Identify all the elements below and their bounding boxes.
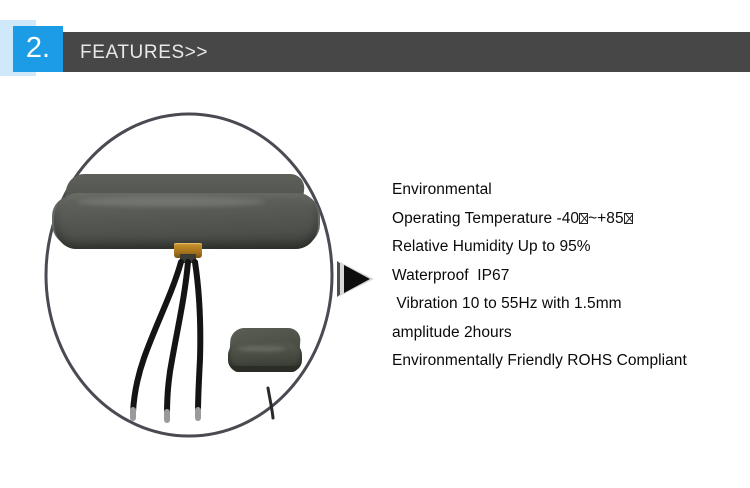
header-section-number: 2. [13, 26, 63, 72]
antenna-cables [44, 112, 334, 438]
right-arrow-icon [334, 258, 378, 300]
small-antenna-base [232, 366, 298, 372]
spec-line-environmental: Environmental [392, 176, 742, 205]
header-section-number-box: 2. [13, 26, 63, 72]
spec-line-relative-humidity: Relative Humidity Up to 95% [392, 233, 742, 262]
spec-line-rohs: Environmentally Friendly ROHS Compliant [392, 347, 742, 376]
missing-glyph-degree-celsius-2 [624, 213, 633, 224]
missing-glyph-degree-celsius-1 [579, 213, 588, 224]
spec-operating-temp-mid: ~+85 [588, 210, 624, 227]
product-feature-page: 2. FEATURES>> [0, 0, 750, 488]
product-figure [44, 112, 334, 438]
spec-operating-temp-prefix: Operating Temperature -40 [392, 210, 579, 227]
spec-line-waterproof: Waterproof IP67 [392, 262, 742, 291]
spec-line-amplitude: amplitude 2hours [392, 319, 742, 348]
specifications-list: Environmental Operating Temperature -40~… [392, 176, 742, 376]
spec-line-operating-temperature: Operating Temperature -40~+85 [392, 205, 742, 234]
page-title: FEATURES>> [80, 32, 208, 72]
small-antenna-highlight [238, 346, 286, 352]
features-header-banner: 2. FEATURES>> [0, 0, 750, 90]
small-panel-antenna [228, 328, 304, 388]
spec-line-vibration: Vibration 10 to 55Hz with 1.5mm [392, 290, 742, 319]
